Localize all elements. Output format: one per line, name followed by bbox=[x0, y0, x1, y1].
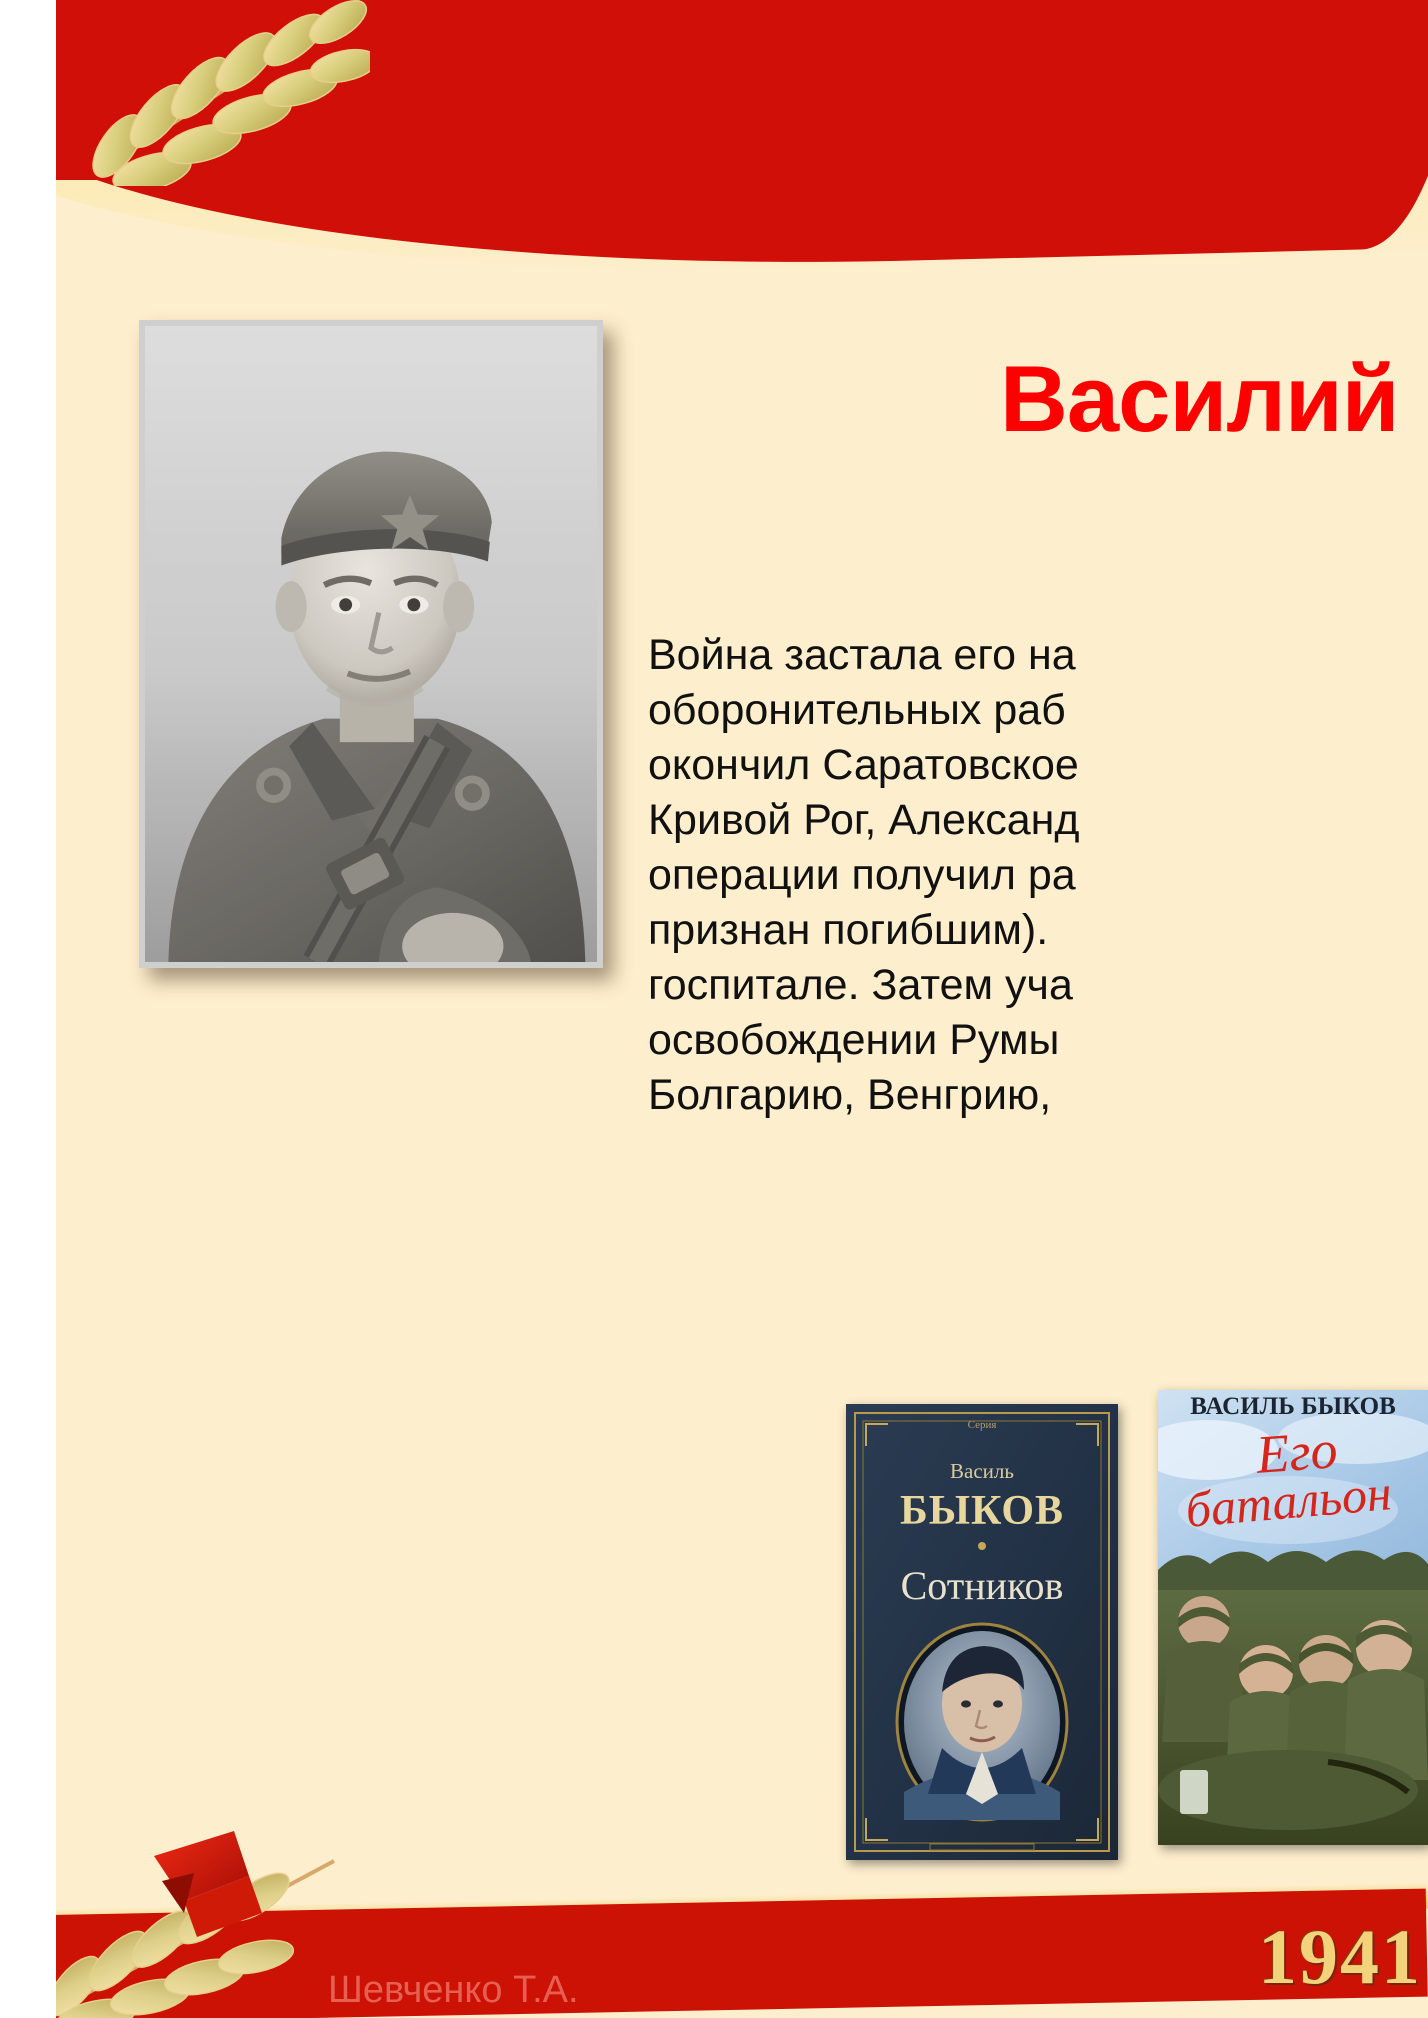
body-line: Болгарию, Венгрию, bbox=[648, 1068, 1428, 1123]
book-cover-sotnikov: Серия Василь БЫКОВ Сотников bbox=[846, 1404, 1118, 1860]
body-line: окончил Саратовское bbox=[648, 738, 1428, 793]
year-label: 1941 bbox=[1258, 1912, 1422, 2002]
book-cover-ego-batalon: ВАСИЛЬ БЫКОВ Его батальон bbox=[1158, 1390, 1428, 1845]
body-line: Кривой Рог, Александ bbox=[648, 793, 1428, 848]
book1-series-label: Серия bbox=[968, 1419, 997, 1431]
laurel-branch-bottom-icon bbox=[34, 1821, 364, 2018]
book1-author-big: БЫКОВ bbox=[900, 1488, 1064, 1534]
soldier-portrait-photo bbox=[139, 320, 603, 968]
body-line: оборонительных раб bbox=[648, 683, 1428, 738]
book1-author-small: Василь bbox=[950, 1459, 1014, 1483]
body-line: Война застала его на bbox=[648, 628, 1428, 683]
body-text-block: Война застала его на оборонительных раб … bbox=[648, 628, 1428, 1123]
body-line: признан погибшим). bbox=[648, 903, 1428, 958]
book2-author: ВАСИЛЬ БЫКОВ bbox=[1190, 1393, 1396, 1420]
left-white-margin bbox=[0, 0, 56, 2018]
body-line: госпитале. Затем уча bbox=[648, 958, 1428, 1013]
book1-title: Сотников bbox=[901, 1563, 1064, 1608]
body-line: операции получил ра bbox=[648, 848, 1428, 903]
presentation-slide: Василий bbox=[0, 0, 1428, 2018]
laurel-branch-icon bbox=[70, 0, 370, 191]
body-line: освобождении Румы bbox=[648, 1013, 1428, 1068]
portrait-image bbox=[145, 326, 597, 962]
author-signature: Шевченко Т.А. bbox=[328, 1969, 579, 2012]
page-title: Василий bbox=[1000, 352, 1399, 446]
